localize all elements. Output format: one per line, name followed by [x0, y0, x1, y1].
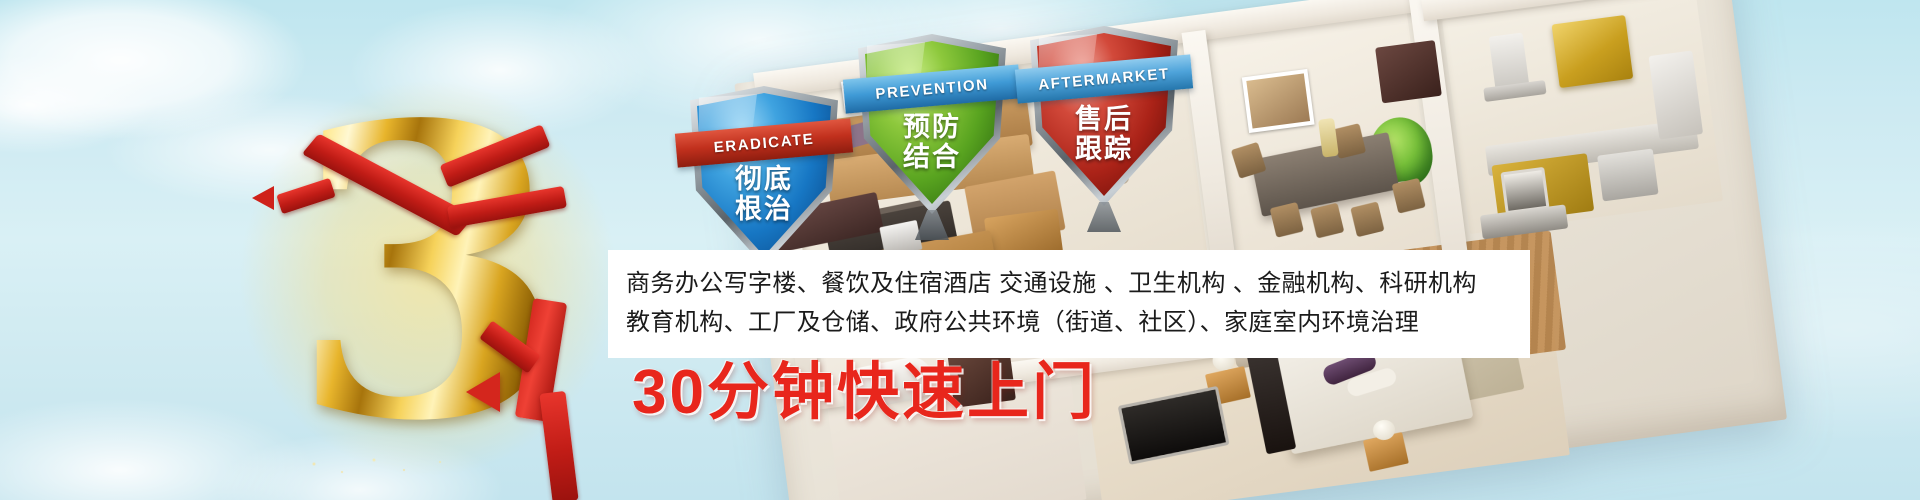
shield-chinese-label: 彻底 根治 [690, 164, 838, 224]
shield-english-label: ERADICATE [713, 130, 815, 156]
shield-chinese-line1: 预防 [858, 112, 1006, 142]
red-ribbon-tip [252, 186, 274, 210]
kitchen-upper-cabinet [1552, 15, 1634, 88]
shield-chinese-line2: 结合 [858, 142, 1006, 172]
red-ribbon-arrow [466, 372, 500, 412]
shield-chinese-line2: 根治 [690, 194, 838, 224]
sparkle-particles [300, 452, 480, 482]
shield-badge-eradicate: ERADICATE 彻底 根治 [690, 86, 838, 266]
shield-chinese-line2: 跟踪 [1030, 134, 1178, 164]
shield-chinese-line1: 彻底 [690, 164, 838, 194]
shield-english-label: PREVENTION [875, 76, 990, 103]
promo-banner: 3 ERADICATE 彻底 根治 PREVENTION 预防 结合 [0, 0, 1920, 500]
marble-accent-panel [1375, 40, 1442, 103]
shield-badge-prevention: PREVENTION 预防 结合 [858, 34, 1006, 214]
shield-chinese-line1: 售后 [1030, 104, 1178, 134]
service-scope-line-2: 教育机构、工厂及仓储、政府公共环境（街道、社区）、家庭室内环境治理 [626, 304, 1512, 343]
service-scope-line-1: 商务办公写字楼、餐饮及住宿酒店 交通设施 、卫生机构 、金融机构、科研机构 [626, 265, 1512, 304]
shield-chinese-label: 预防 结合 [858, 112, 1006, 172]
shield-badge-aftermarket: AFTERMARKET 售后 跟踪 [1030, 26, 1178, 206]
kitchen-sink [1597, 149, 1659, 202]
promo-headline: 30分钟快速上门 [632, 362, 1097, 424]
shield-english-label: AFTERMARKET [1038, 65, 1171, 93]
service-scope-panel: 商务办公写字楼、餐饮及住宿酒店 交通设施 、卫生机构 、金融机构、科研机构 教育… [608, 250, 1530, 358]
wall-painting [1242, 69, 1315, 133]
shield-chinese-label: 售后 跟踪 [1030, 104, 1178, 164]
